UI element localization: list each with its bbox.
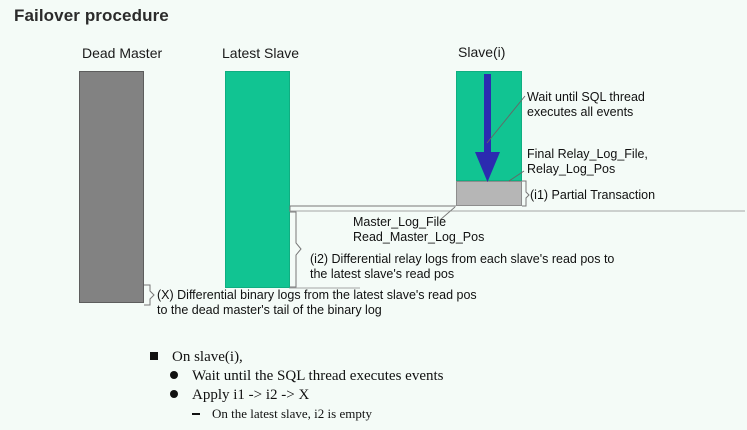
brace-i1-partial-transaction <box>522 181 529 206</box>
bullet-level2-wait-sql-thread: Wait until the SQL thread executes event… <box>150 367 444 386</box>
annotation-differential-binary-logs: (X) Differential binary logs from the la… <box>157 288 477 318</box>
leader-final-relay-log <box>509 171 524 181</box>
dash-bullet-icon <box>192 413 200 415</box>
disc-bullet-icon <box>170 371 178 379</box>
bullet-level3-latest-slave-note: On the latest slave, i2 is empty <box>150 405 444 423</box>
brace-i2-differential-relay <box>290 212 301 287</box>
bullet-level1-on-slave-i: On slave(i), <box>150 348 444 367</box>
brace-x-differential-binary <box>144 285 154 305</box>
annotation-master-log-pos: Master_Log_File Read_Master_Log_Pos <box>353 215 484 245</box>
bullet-text: On slave(i), <box>172 349 243 365</box>
slide-canvas: Failover procedure Dead Master Latest Sl… <box>0 0 747 430</box>
annotation-differential-relay-logs: (i2) Differential relay logs from each s… <box>310 252 614 282</box>
bullet-text: Apply i1 -> i2 -> X <box>192 387 309 403</box>
bullet-text: On the latest slave, i2 is empty <box>212 406 372 421</box>
bullet-list: On slave(i), Wait until the SQL thread e… <box>150 348 444 423</box>
leader-wait-sql-thread <box>487 96 525 143</box>
bullet-level2-apply-order: Apply i1 -> i2 -> X <box>150 386 444 405</box>
bullet-text: Wait until the SQL thread executes event… <box>192 368 444 384</box>
annotation-final-relay-log: Final Relay_Log_File, Relay_Log_Pos <box>527 147 648 177</box>
leader-master-log-pos <box>290 206 456 211</box>
annotation-wait-sql-thread: Wait until SQL thread executes all event… <box>527 90 645 120</box>
square-bullet-icon <box>150 352 158 360</box>
disc-bullet-icon <box>170 390 178 398</box>
sql-thread-progress-arrow <box>475 74 500 182</box>
annotation-partial-transaction: (i1) Partial Transaction <box>530 188 655 203</box>
